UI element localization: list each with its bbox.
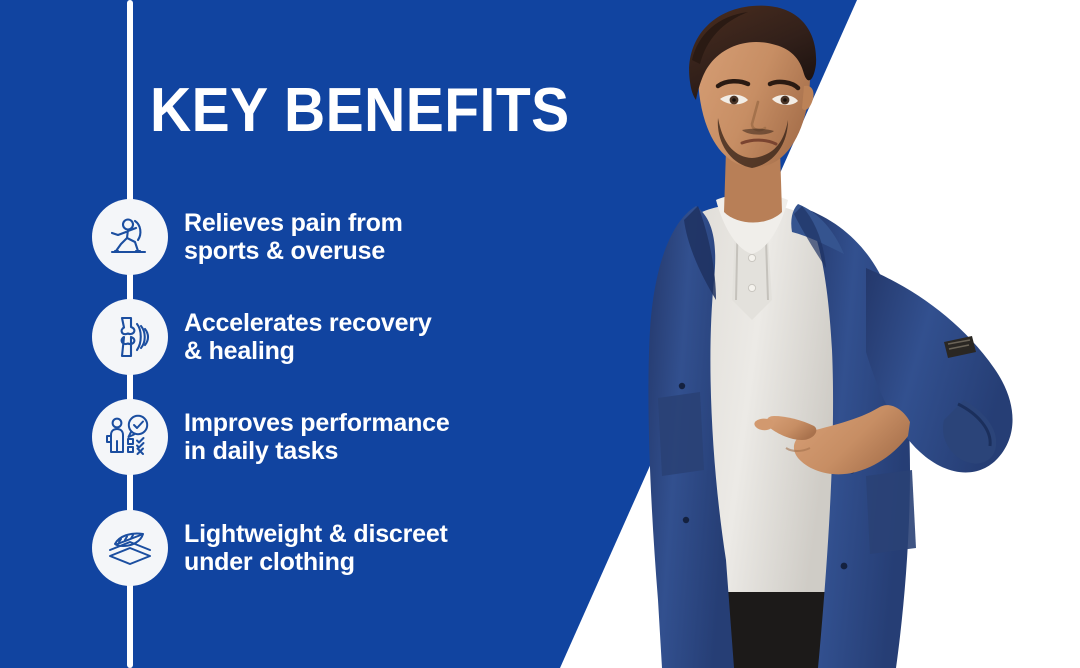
page-title: KEY BENEFITS: [150, 80, 570, 142]
person-checklist-performance-icon: [92, 399, 168, 475]
list-item: Relieves pain from sports & overuse: [92, 199, 562, 275]
key-benefits-banner: KEY BENEFITS Relieves pain from sports &…: [0, 0, 1080, 668]
list-item: Lightweight & discreet under clothing: [92, 510, 562, 586]
feather-fabric-layers-icon: [92, 510, 168, 586]
list-item: Accelerates recovery & healing: [92, 299, 562, 375]
athlete-sports-icon: [92, 199, 168, 275]
list-item-label: Improves performance in daily tasks: [184, 409, 450, 465]
person-checklist-row: Improves performance in daily tasks: [92, 399, 562, 475]
list-item-label: Accelerates recovery & healing: [184, 309, 432, 365]
list-item-label: Lightweight & discreet under clothing: [184, 520, 448, 576]
list-item-label: Relieves pain from sports & overuse: [184, 209, 403, 265]
model-photo: [566, 0, 1080, 668]
knee-joint-recovery-icon: [92, 299, 168, 375]
